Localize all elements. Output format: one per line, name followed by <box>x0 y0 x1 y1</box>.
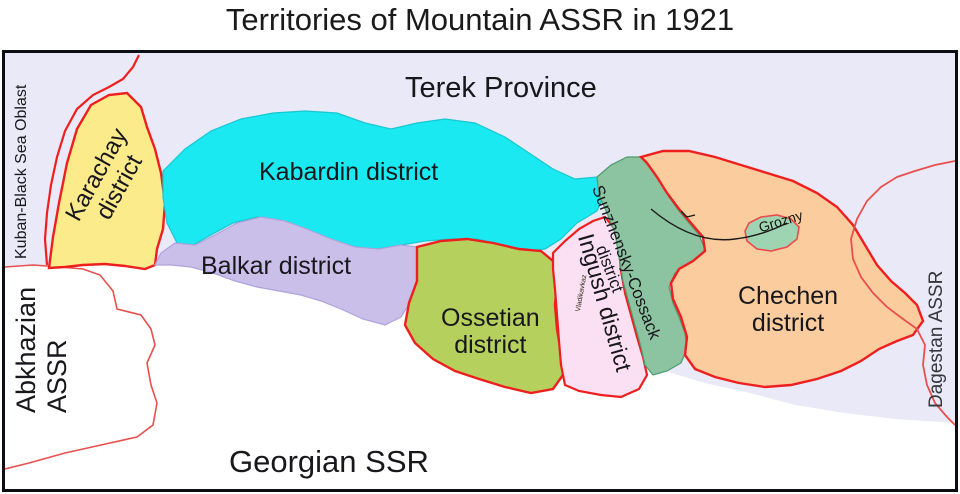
map-canvas: Terek Province Kabardin district Balkar … <box>2 50 958 492</box>
map-page: Territories of Mountain ASSR in 1921 <box>0 0 960 494</box>
page-title: Territories of Mountain ASSR in 1921 <box>0 2 960 38</box>
map-graphic <box>5 53 955 489</box>
